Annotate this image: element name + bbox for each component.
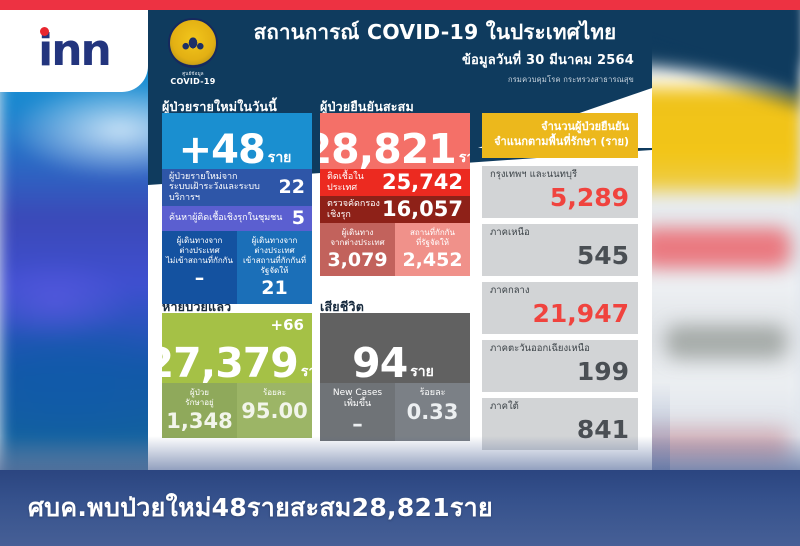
recovered-unit: ราย <box>298 365 312 383</box>
split-value: 3,079 <box>323 251 392 270</box>
header-title-block: สถานการณ์ COVID-19 ในประเทศไทย ข้อมูลวัน… <box>232 20 638 86</box>
deaths-new-cases: New Casesเพิ่มขึ้น – <box>320 383 395 441</box>
row-value: 22 <box>279 178 305 197</box>
cumulative-unit: ราย <box>456 151 470 169</box>
split-value: 21 <box>240 279 309 298</box>
deaths-value: 94 <box>352 344 407 383</box>
issuing-organization: กรมควบคุมโรค กระทรวงสาธารณสุข <box>232 74 638 86</box>
region-value: 5,289 <box>490 185 629 210</box>
row-value: 16,057 <box>382 199 463 220</box>
region-row-northeast: ภาคตะวันออกเฉียงเหนือ 199 <box>482 340 638 392</box>
row-label: ผู้ป่วยรายใหม่จากระบบเฝ้าระวังและระบบบริ… <box>169 172 279 203</box>
new-today-abroad-no-quarantine: ผู้เดินทางจากต่างประเทศไม่เข้าสถานที่กัก… <box>162 231 237 304</box>
cumulative-row-domestic: ติดเชื้อในประเทศ 25,742 <box>320 169 470 196</box>
new-today-hero: +48 ราย <box>162 113 312 169</box>
region-value: 199 <box>490 359 629 384</box>
cumulative-from-abroad: ผู้เดินทางจากต่างประเทศ 3,079 <box>320 223 395 276</box>
region-header-line1: จำนวนผู้ป่วยยืนยัน <box>491 120 629 135</box>
new-today-split: ผู้เดินทางจากต่างประเทศไม่เข้าสถานที่กัก… <box>162 231 312 304</box>
row-value: 25,742 <box>382 172 463 193</box>
logo-dot-icon <box>40 27 49 36</box>
deaths-split: New Casesเพิ่มขึ้น – ร้อยละ 0.33 <box>320 383 470 441</box>
row-label: ตรวจคัดกรองเชิงรุก <box>327 199 382 220</box>
cumulative-hero: 28,821 ราย <box>320 113 470 169</box>
region-value: 545 <box>490 243 629 268</box>
infographic-screenshot: inn ศูนย์ข้อมูล COVID-19 สถานการณ์ COVID… <box>0 0 800 546</box>
deaths-hero: 94 ราย <box>320 313 470 383</box>
split-label: ร้อยละ <box>398 388 467 399</box>
stat-block-cumulative: 28,821 ราย ติดเชื้อในประเทศ 25,742 ตรวจค… <box>320 113 470 276</box>
recovered-currently-treated: ผู้ป่วยรักษาอยู่ 1,348 <box>162 383 237 438</box>
cumulative-split: ผู้เดินทางจากต่างประเทศ 3,079 สถานที่กัก… <box>320 223 470 276</box>
split-label: ผู้เดินทางจากต่างประเทศ <box>323 228 392 248</box>
stat-block-recovered: +66 27,379 ราย ผู้ป่วยรักษาอยู่ 1,348 ร้… <box>162 313 312 438</box>
split-label: ร้อยละ <box>240 388 309 398</box>
stat-block-new-today: +48 ราย ผู้ป่วยรายใหม่จากระบบเฝ้าระวังแล… <box>162 113 312 304</box>
region-row-south: ภาคใต้ 841 <box>482 398 638 450</box>
split-label: New Casesเพิ่มขึ้น <box>323 388 392 411</box>
row-label: ติดเชื้อในประเทศ <box>327 172 382 193</box>
region-header-line2: จำแนกตามพื้นที่รักษา (ราย) <box>491 135 629 150</box>
inn-logo: inn <box>0 10 148 92</box>
split-label: ผู้ป่วยรักษาอยู่ <box>165 388 234 408</box>
new-today-row-active-search: ค้นหาผู้ติดเชื้อเชิงรุกในชุมชน 5 <box>162 206 312 231</box>
garuda-emblem-icon <box>168 18 218 68</box>
region-value: 21,947 <box>490 301 629 326</box>
cumulative-row-active-screening: ตรวจคัดกรองเชิงรุก 16,057 <box>320 196 470 223</box>
split-label: ผู้เดินทางจากต่างประเทศไม่เข้าสถานที่กัก… <box>165 236 234 266</box>
split-value: 1,348 <box>165 411 234 432</box>
recovered-hero: +66 27,379 ราย <box>162 313 312 383</box>
emblem-caption-bottom: COVID-19 <box>162 77 224 86</box>
split-value: – <box>165 269 234 288</box>
infographic-card: ศูนย์ข้อมูล COVID-19 สถานการณ์ COVID-19 … <box>148 10 652 470</box>
new-today-abroad-state-quarantine: ผู้เดินทางจากต่างประเทศเข้าสถานที่กักกัน… <box>237 231 312 304</box>
region-row-central: ภาคกลาง 21,947 <box>482 282 638 334</box>
new-today-row-surveillance: ผู้ป่วยรายใหม่จากระบบเฝ้าระวังและระบบบริ… <box>162 169 312 206</box>
region-row-north: ภาคเหนือ 545 <box>482 224 638 276</box>
cumulative-state-quarantine: สถานที่กักกันที่รัฐจัดให้ 2,452 <box>395 223 470 276</box>
recovered-split: ผู้ป่วยรักษาอยู่ 1,348 ร้อยละ 95.00 <box>162 383 312 438</box>
background-blur-blob-rose <box>630 428 790 462</box>
region-panel-header: จำนวนผู้ป่วยยืนยัน จำแนกตามพื้นที่รักษา … <box>482 113 638 158</box>
split-value: – <box>323 414 392 435</box>
headline-text: ศบค.พบป่วยใหม่48รายสะสม28,821ราย <box>0 488 493 528</box>
background-blur-blob-red <box>640 228 790 268</box>
row-value: 5 <box>292 209 305 228</box>
region-value: 841 <box>490 417 629 442</box>
recovered-delta: +66 <box>271 318 304 333</box>
top-red-stripe <box>0 0 800 10</box>
split-value: 95.00 <box>240 401 309 422</box>
split-value: 2,452 <box>398 251 467 270</box>
new-today-value: +48 <box>179 131 265 169</box>
split-label: สถานที่กักกันที่รัฐจัดให้ <box>398 228 467 248</box>
new-today-unit: ราย <box>265 151 296 169</box>
region-row-bangkok: กรุงเทพฯ และนนทบุรี 5,289 <box>482 166 638 218</box>
region-name: กรุงเทพฯ และนนทบุรี <box>490 170 629 180</box>
page-title: สถานการณ์ COVID-19 ในประเทศไทย <box>232 20 638 45</box>
row-label: ค้นหาผู้ติดเชื้อเชิงรุกในชุมชน <box>169 213 282 223</box>
inn-logo-text: inn <box>38 29 110 73</box>
stat-block-deaths: 94 ราย New Casesเพิ่มขึ้น – ร้อยละ 0.33 <box>320 313 470 441</box>
region-name: ภาคเหนือ <box>490 228 629 238</box>
split-value: 0.33 <box>398 402 467 423</box>
background-blur-blob-gray <box>666 325 786 359</box>
government-emblem: ศูนย์ข้อมูล COVID-19 <box>162 18 224 86</box>
bottom-headline-banner: ศบค.พบป่วยใหม่48รายสะสม28,821ราย <box>0 470 800 546</box>
emblem-caption-top: ศูนย์ข้อมูล <box>162 70 224 77</box>
recovered-percent: ร้อยละ 95.00 <box>237 383 312 438</box>
region-name: ภาคตะวันออกเฉียงเหนือ <box>490 344 629 354</box>
deaths-percent: ร้อยละ 0.33 <box>395 383 470 441</box>
region-name: ภาคใต้ <box>490 402 629 412</box>
region-name: ภาคกลาง <box>490 286 629 296</box>
cumulative-value: 28,821 <box>320 130 456 169</box>
recovered-value: 27,379 <box>162 344 298 383</box>
deaths-unit: ราย <box>407 365 438 383</box>
split-label: ผู้เดินทางจากต่างประเทศเข้าสถานที่กักกัน… <box>240 236 309 276</box>
report-date: ข้อมูลวันที่ 30 มีนาคม 2564 <box>232 49 638 70</box>
